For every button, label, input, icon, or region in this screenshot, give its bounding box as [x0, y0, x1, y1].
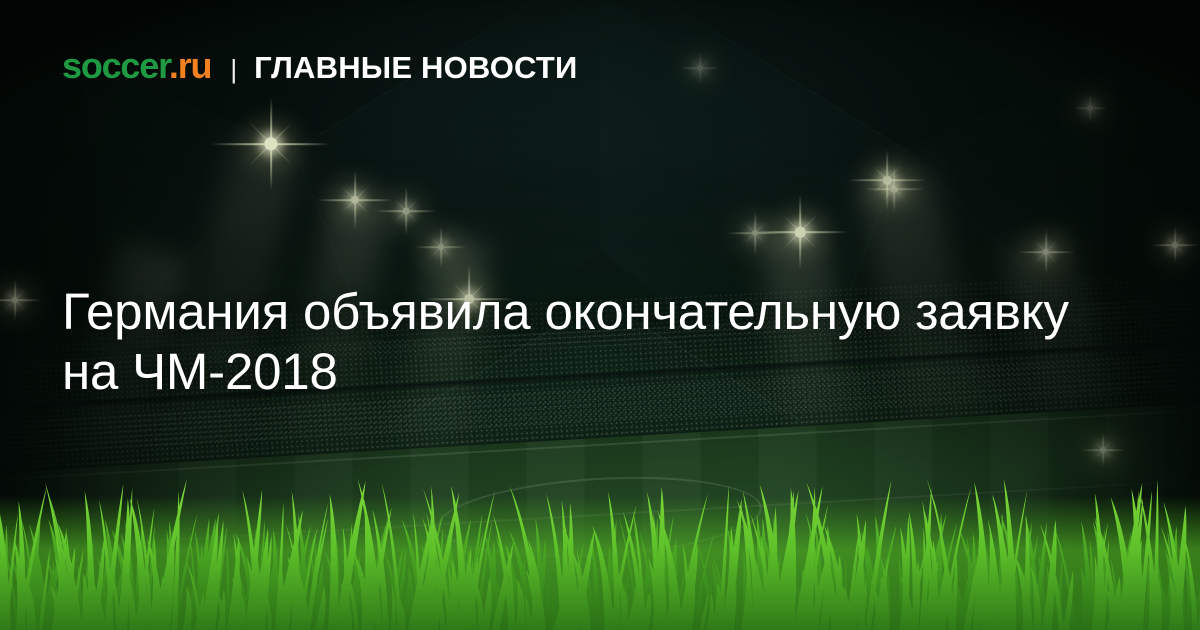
logo-tld: .ru [169, 45, 211, 86]
card-content: soccer.ru | ГЛАВНЫЕ НОВОСТИ Германия объ… [0, 0, 1200, 630]
logo-word: soccer [62, 45, 169, 86]
site-logo[interactable]: soccer.ru [62, 48, 211, 84]
news-share-card: soccer.ru | ГЛАВНЫЕ НОВОСТИ Германия объ… [0, 0, 1200, 630]
page-title: Германия объявила окончательную заявку н… [62, 282, 1092, 402]
header-separator: | [230, 56, 237, 82]
header-kicker: ГЛАВНЫЕ НОВОСТИ [254, 52, 577, 83]
card-header: soccer.ru | ГЛАВНЫЕ НОВОСТИ [62, 48, 578, 84]
